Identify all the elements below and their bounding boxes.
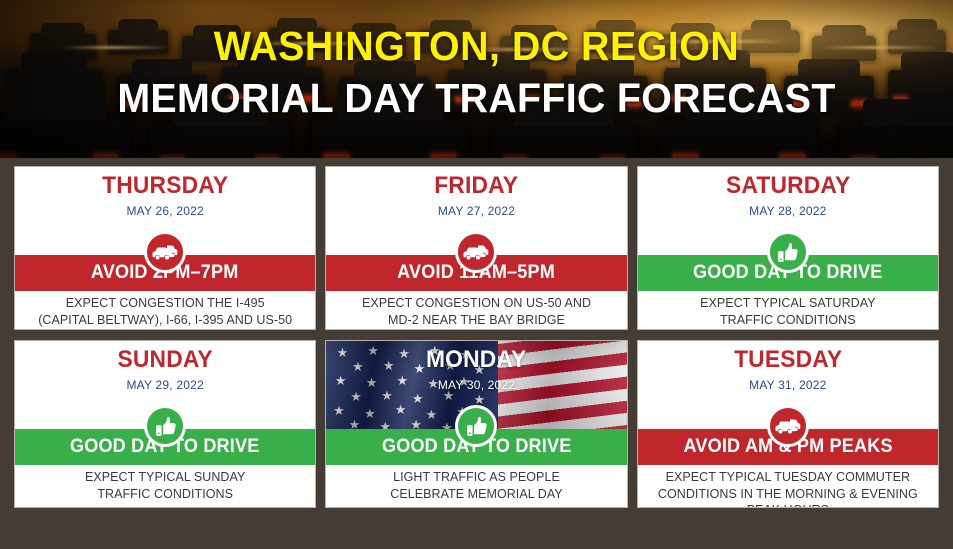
card-header-sunday: SUNDAY MAY 29, 2022	[15, 341, 315, 429]
two-cars-icon	[455, 231, 497, 273]
day-name: FRIDAY	[334, 174, 619, 198]
card-body-tuesday: EXPECT TYPICAL TUESDAY COMMUTER CONDITIO…	[638, 465, 938, 508]
forecast-card-thursday[interactable]: THURSDAY MAY 26, 2022 AVOID 2PM–7PM EXPE…	[14, 166, 316, 330]
day-name: TUESDAY	[645, 348, 930, 372]
card-note: EXPECT TYPICAL SATURDAY TRAFFIC CONDITIO…	[700, 295, 876, 328]
thumbs-up-icon	[144, 405, 186, 447]
day-date: MAY 27, 2022	[326, 205, 626, 217]
day-date: MAY 29, 2022	[15, 379, 315, 391]
card-note: EXPECT CONGESTION ON US-50 AND MD-2 NEAR…	[362, 295, 591, 328]
card-note: EXPECT CONGESTION THE I-495 (CAPITAL BEL…	[38, 295, 292, 328]
card-body-friday: EXPECT CONGESTION ON US-50 AND MD-2 NEAR…	[326, 291, 626, 330]
thumbs-up-icon	[767, 231, 809, 273]
day-name: THURSDAY	[23, 174, 308, 198]
card-body-thursday: EXPECT CONGESTION THE I-495 (CAPITAL BEL…	[15, 291, 315, 330]
forecast-card-sunday[interactable]: SUNDAY MAY 29, 2022 GOOD DAY TO DRIVE EX…	[14, 340, 316, 508]
poster-title-main: MEMORIAL DAY TRAFFIC FORECAST	[19, 78, 934, 119]
thumbs-up-icon	[455, 405, 497, 447]
forecast-card-monday[interactable]: ★ ★ ★ ★ ★ ★ ★ ★ ★ ★ ★ ★ ★ ★ ★	[325, 340, 627, 508]
card-header-thursday: THURSDAY MAY 26, 2022	[15, 167, 315, 255]
traffic-forecast-poster: WASHINGTON, DC REGION MEMORIAL DAY TRAFF…	[0, 0, 953, 549]
two-cars-icon	[767, 405, 809, 447]
forecast-card-grid: THURSDAY MAY 26, 2022 AVOID 2PM–7PM EXPE…	[14, 166, 939, 508]
card-note: LIGHT TRAFFIC AS PEOPLE CELEBRATE MEMORI…	[390, 469, 562, 502]
card-header-saturday: SATURDAY MAY 28, 2022	[638, 167, 938, 255]
day-name: SUNDAY	[23, 348, 308, 372]
forecast-card-friday[interactable]: FRIDAY MAY 27, 2022 AVOID 11AM–5PM EXPEC…	[325, 166, 627, 330]
two-cars-icon	[144, 231, 186, 273]
day-name: SATURDAY	[645, 174, 930, 198]
poster-header: WASHINGTON, DC REGION MEMORIAL DAY TRAFF…	[0, 0, 953, 158]
day-date: MAY 26, 2022	[15, 205, 315, 217]
card-header-friday: FRIDAY MAY 27, 2022	[326, 167, 626, 255]
card-body-saturday: EXPECT TYPICAL SATURDAY TRAFFIC CONDITIO…	[638, 291, 938, 330]
card-body-sunday: EXPECT TYPICAL SUNDAY TRAFFIC CONDITIONS	[15, 465, 315, 508]
poster-title-region: WASHINGTON, DC REGION	[19, 26, 934, 67]
day-date: MAY 31, 2022	[638, 379, 938, 391]
card-note: EXPECT TYPICAL TUESDAY COMMUTER CONDITIO…	[658, 469, 918, 508]
day-date: MAY 28, 2022	[638, 205, 938, 217]
card-header-monday: ★ ★ ★ ★ ★ ★ ★ ★ ★ ★ ★ ★ ★ ★ ★	[326, 341, 626, 429]
card-header-tuesday: TUESDAY MAY 31, 2022	[638, 341, 938, 429]
header-title-block: WASHINGTON, DC REGION MEMORIAL DAY TRAFF…	[0, 26, 953, 119]
forecast-card-saturday[interactable]: SATURDAY MAY 28, 2022 GOOD DAY TO DRIVE …	[637, 166, 939, 330]
card-note: EXPECT TYPICAL SUNDAY TRAFFIC CONDITIONS	[85, 469, 245, 502]
card-body-monday: LIGHT TRAFFIC AS PEOPLE CELEBRATE MEMORI…	[326, 465, 626, 508]
day-name: MONDAY	[334, 348, 619, 372]
forecast-card-tuesday[interactable]: TUESDAY MAY 31, 2022 AVOID AM & PM PEAKS…	[637, 340, 939, 508]
day-date: MAY 30, 2022	[326, 379, 626, 391]
